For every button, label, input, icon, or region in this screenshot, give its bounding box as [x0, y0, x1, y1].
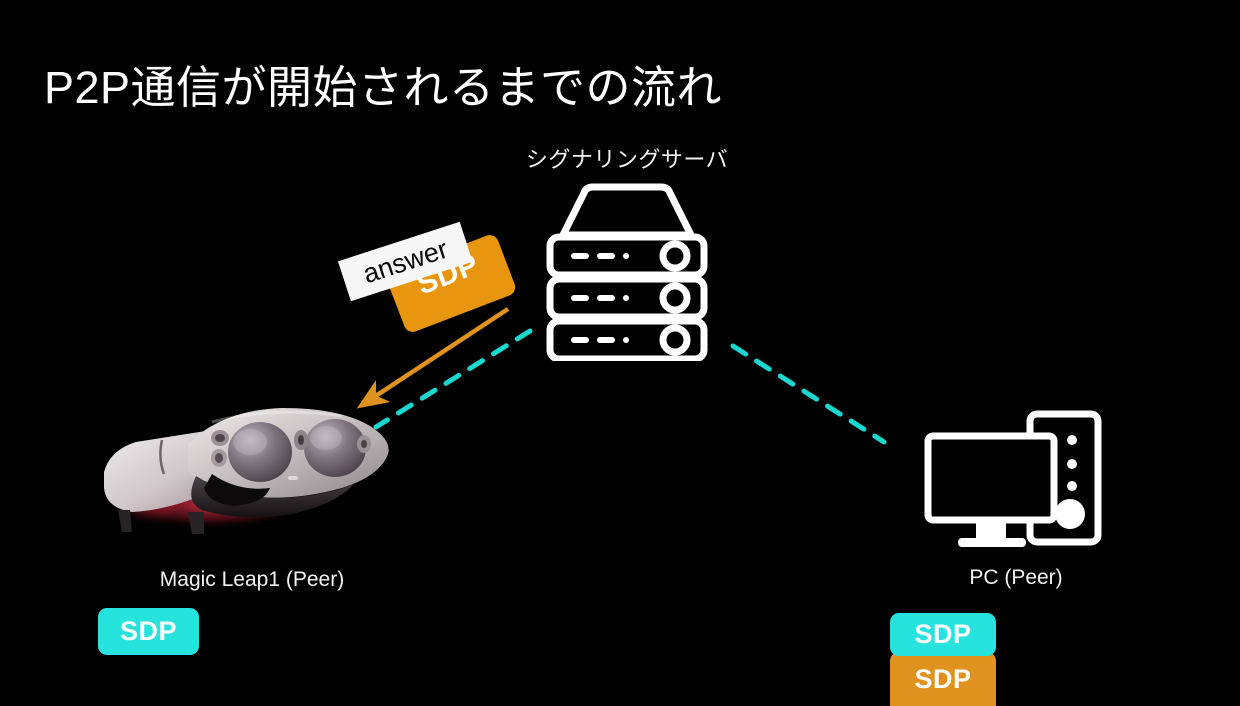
answer-sdp-card: SDP answer: [357, 214, 516, 339]
magic-leap-headset-image: [92, 392, 422, 567]
magic-leap-sdp-badge: SDP: [98, 608, 199, 655]
pc-sdp-badge-orange: SDP: [890, 652, 996, 706]
pc-peer-label: PC (Peer): [969, 566, 1062, 590]
link-server-to-pc: [733, 346, 884, 442]
server-rack-icon: [527, 183, 727, 366]
desktop-computer-icon: [920, 408, 1120, 565]
slide-canvas: P2P通信が開始されるまでの流れ シグナリングサーバ: [0, 0, 1240, 706]
page-title: P2P通信が開始されるまでの流れ: [44, 62, 722, 114]
signaling-server-label: シグナリングサーバ: [526, 142, 728, 174]
pc-sdp-badge-cyan: SDP: [890, 613, 996, 656]
magic-leap-peer-label: Magic Leap1 (Peer): [160, 568, 344, 592]
